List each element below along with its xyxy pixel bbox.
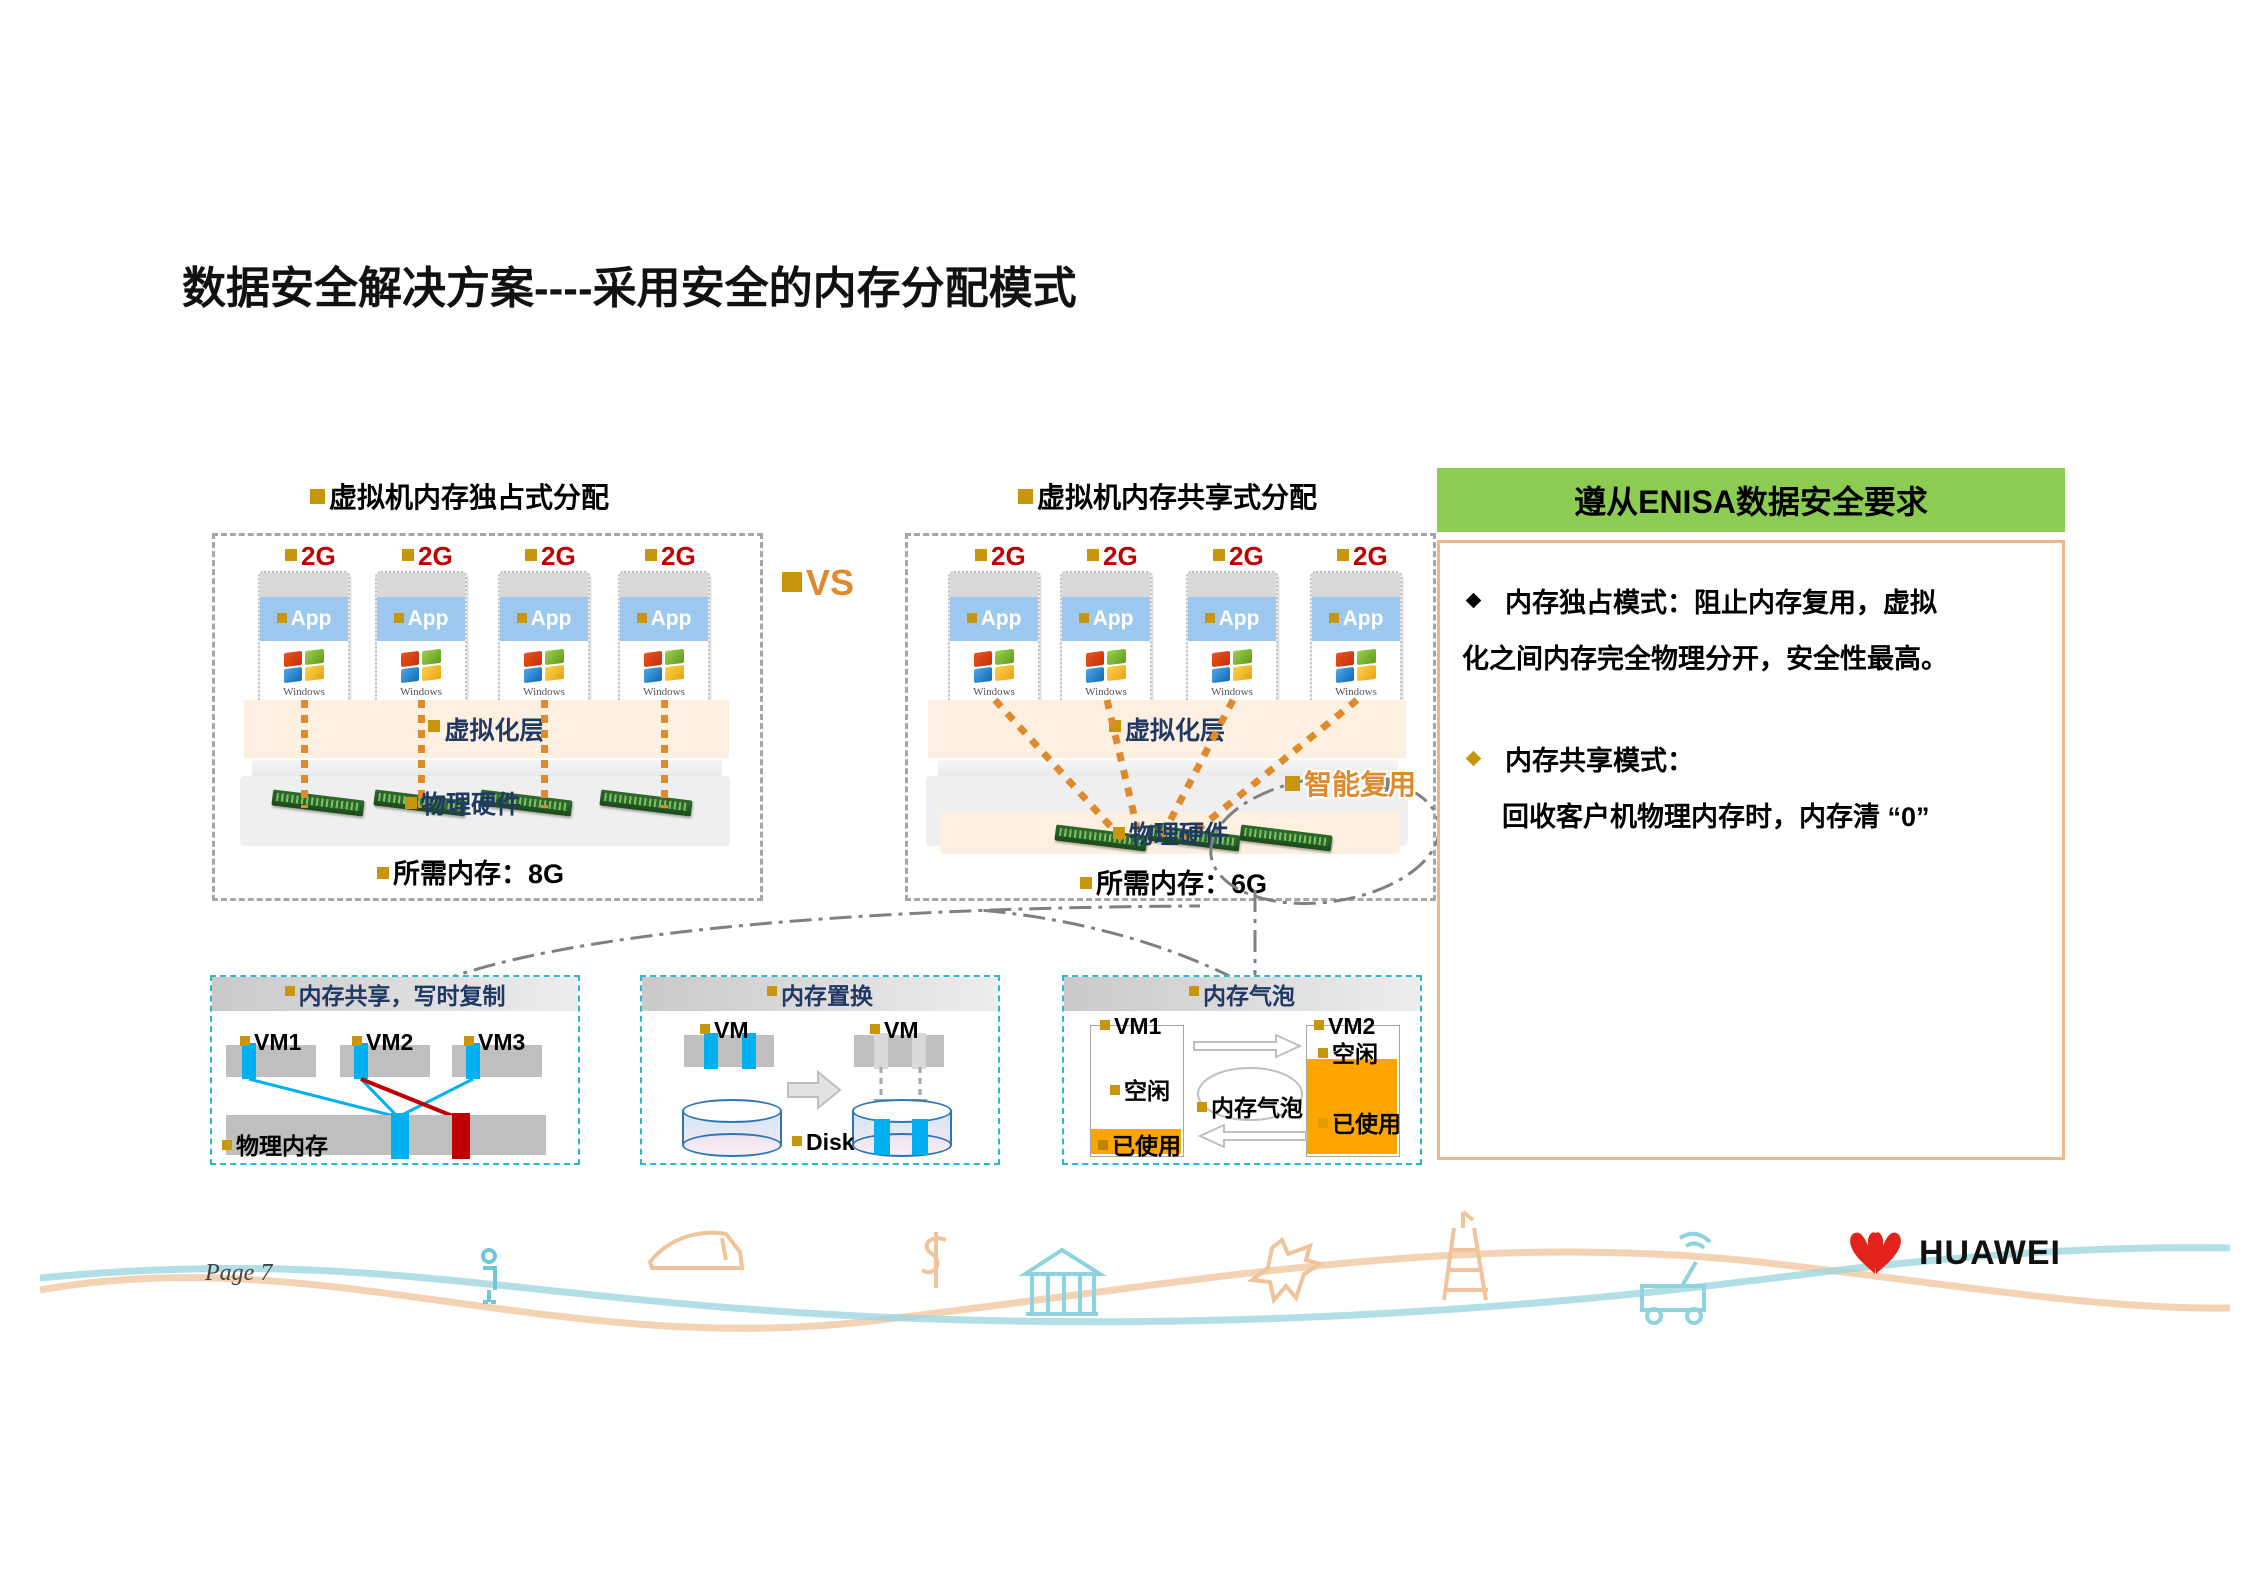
bullet-square-icon xyxy=(767,986,777,996)
windows-logo-icon xyxy=(643,650,685,684)
page-number: Page 7 xyxy=(205,1260,272,1287)
left-connector-2 xyxy=(541,700,548,808)
detail-box-0-vm1-label: VM1 xyxy=(240,1029,301,1056)
left-vm-0-mem: 2G xyxy=(285,541,336,572)
left-vm-3-mem: 2G xyxy=(645,541,696,572)
right-vm-2: App Windows xyxy=(1186,571,1278,713)
physical-cow-page xyxy=(452,1113,470,1159)
right-vm-1-mem: 2G xyxy=(1087,541,1138,572)
disk-page-1 xyxy=(912,1119,928,1155)
detail-box-1-disk-label: Disk xyxy=(792,1129,855,1156)
bullet-square-icon xyxy=(1079,613,1089,623)
bullet-square-icon xyxy=(975,549,987,561)
bullet-square-icon xyxy=(1318,1118,1328,1128)
bullet-square-icon xyxy=(967,613,977,623)
disk-cylinder-right xyxy=(852,1099,952,1157)
huawei-flower-icon xyxy=(1845,1228,1907,1278)
cyl-top xyxy=(682,1099,782,1123)
disk-cylinder-left xyxy=(682,1099,782,1157)
left-connector-3 xyxy=(661,700,668,808)
left-vm-2-mem: 2G xyxy=(525,541,576,572)
detail-box-memory-balloon: 内存气泡 VM1 空闲 已使用 VM2 空闲 已使用 内存气泡 xyxy=(1062,975,1422,1165)
smart-reuse-label: 智能复用 xyxy=(1285,763,1416,803)
vm-app-band: App xyxy=(377,597,465,641)
dollar-icon xyxy=(922,1232,946,1288)
left-connector-0 xyxy=(301,700,308,808)
bullet-square-icon xyxy=(428,720,440,732)
bullet-square-icon xyxy=(1337,549,1349,561)
vm-os-label: Windows xyxy=(643,686,685,698)
left-vm-2: App Windows xyxy=(498,571,590,713)
bullet-square-icon xyxy=(792,1136,802,1146)
vm-os-area: Windows xyxy=(500,641,588,707)
bullet-square-icon xyxy=(352,1036,362,1046)
windows-logo-icon xyxy=(1211,650,1253,684)
vm-app-band: App xyxy=(1312,597,1400,641)
bank-icon xyxy=(1025,1250,1100,1314)
vehicle-icon xyxy=(1642,1234,1710,1323)
vm-cap xyxy=(500,573,588,597)
detail-box-2-vm1-free: 空闲 xyxy=(1110,1072,1170,1106)
vm-os-area: Windows xyxy=(620,641,708,707)
disk-page-0 xyxy=(874,1119,890,1155)
bullet-square-icon xyxy=(1113,827,1125,839)
cyl-bottom xyxy=(852,1133,952,1157)
bullet-square-icon xyxy=(1197,1102,1207,1112)
left-panel-heading: 虚拟机内存独占式分配 xyxy=(310,476,609,516)
bullet-square-icon xyxy=(222,1140,232,1150)
cyl-bottom xyxy=(682,1133,782,1157)
vs-label: VS xyxy=(782,562,854,604)
right-vm-3: App Windows xyxy=(1310,571,1402,713)
left-vm-1-mem: 2G xyxy=(402,541,453,572)
windows-logo-icon xyxy=(1335,650,1377,684)
bullet-square-icon xyxy=(1329,613,1339,623)
detail-box-0-vm2-label: VM2 xyxy=(352,1029,413,1056)
windows-logo-icon xyxy=(1085,650,1127,684)
vm-app-band: App xyxy=(260,597,348,641)
detail-box-2-vm2-free: 空闲 xyxy=(1318,1035,1378,1069)
left-hw-label: 物理硬件 xyxy=(405,785,521,821)
detail-box-1-title: 内存置换 xyxy=(642,977,998,1011)
slide-canvas: 数据安全解决方案----采用安全的内存分配模式 虚拟机内存独占式分配 2G 2G… xyxy=(0,0,2245,1587)
windows-logo-icon xyxy=(523,650,565,684)
bullet-square-icon xyxy=(377,867,389,879)
bullet-square-icon xyxy=(394,613,404,623)
detail-box-2-balloon-label: 内存气泡 xyxy=(1197,1089,1303,1123)
bullet-square-icon xyxy=(1018,489,1033,504)
vm-cap xyxy=(620,573,708,597)
vm-cap xyxy=(1188,573,1276,597)
vm-cap xyxy=(260,573,348,597)
train-icon xyxy=(650,1233,742,1268)
bullet-square-icon xyxy=(1098,1140,1108,1150)
left-virtualization-layer: 虚拟化层 xyxy=(244,700,729,758)
diamond-bullet-icon xyxy=(1466,593,1482,609)
vm-os-area: Windows xyxy=(377,641,465,707)
vm-app-band: App xyxy=(950,597,1038,641)
detail-box-2-title: 内存气泡 xyxy=(1064,977,1420,1011)
vm-cap xyxy=(1312,573,1400,597)
detail-box-1-vm-left-label: VM xyxy=(700,1017,749,1044)
vm-app-band: App xyxy=(500,597,588,641)
vm-os-area: Windows xyxy=(260,641,348,707)
right-vm-0-mem: 2G xyxy=(975,541,1026,572)
bullet-square-icon xyxy=(1213,549,1225,561)
person-icon xyxy=(483,1250,496,1302)
bullet-square-icon xyxy=(310,489,325,504)
right-vm-2-mem: 2G xyxy=(1213,541,1264,572)
bullet-square-icon xyxy=(1189,986,1199,996)
bullet-square-icon xyxy=(1110,1085,1120,1095)
bullet-square-icon xyxy=(1285,776,1300,791)
bullet-square-icon xyxy=(277,613,287,623)
right-hw-label: 物理硬件 xyxy=(1113,815,1229,851)
vm-cap xyxy=(377,573,465,597)
vm-app-band: App xyxy=(1188,597,1276,641)
vm-os-label: Windows xyxy=(523,686,565,698)
cyl-top xyxy=(852,1099,952,1123)
bullet-square-icon xyxy=(240,1036,250,1046)
left-vm-3: App Windows xyxy=(618,571,710,713)
enisa-body: 内存独占模式：阻止内存复用，虚拟 化之间内存完全物理分开，安全性最高。 内存共享… xyxy=(1437,540,2065,1160)
bullet-square-icon xyxy=(1314,1020,1324,1030)
huawei-logo: HUAWEI xyxy=(1845,1228,2061,1278)
detail-box-memory-swap: 内存置换 VM VM xyxy=(640,975,1000,1165)
right-panel-heading: 虚拟机内存共享式分配 xyxy=(1018,476,1317,516)
right-vm-0: App Windows xyxy=(948,571,1040,713)
enisa-bullet-0-line-1: 化之间内存完全物理分开，安全性最高。 xyxy=(1462,639,1948,680)
vm-app-band: App xyxy=(620,597,708,641)
diamond-bullet-icon xyxy=(1466,751,1482,767)
bullet-square-icon xyxy=(645,549,657,561)
bullet-square-icon xyxy=(405,797,417,809)
bullet-square-icon xyxy=(402,549,414,561)
bullet-square-icon xyxy=(517,613,527,623)
bullet-square-icon xyxy=(870,1024,880,1034)
huawei-wordmark: HUAWEI xyxy=(1919,1234,2061,1273)
detail-box-2-vm1-label: VM1 xyxy=(1100,1013,1161,1040)
bullet-square-icon xyxy=(1087,549,1099,561)
detail-box-1-vm-right-label: VM xyxy=(870,1017,919,1044)
left-vm-0: App Windows xyxy=(258,571,350,713)
bullet-square-icon xyxy=(782,572,802,592)
right-vm-3-mem: 2G xyxy=(1337,541,1388,572)
detail-box-0-physical-label: 物理内存 xyxy=(222,1127,328,1161)
detail-box-memory-share: 内存共享，写时复制 VM1 VM2 VM3 物理内存 xyxy=(210,975,580,1165)
physical-shared-page xyxy=(391,1113,409,1159)
bullet-square-icon xyxy=(285,549,297,561)
bullet-square-icon xyxy=(525,549,537,561)
left-vm-1: App Windows xyxy=(375,571,467,713)
detail-box-2-vm1-used: 已使用 xyxy=(1098,1127,1181,1161)
vm-os-label: Windows xyxy=(283,686,325,698)
vm-app-band: App xyxy=(1062,597,1150,641)
vm-cap xyxy=(950,573,1038,597)
bullet-square-icon xyxy=(700,1024,710,1034)
enisa-bullet-1-line-0: 内存共享模式： xyxy=(1468,741,1694,782)
bullet-square-icon xyxy=(1318,1048,1328,1058)
vm-cap xyxy=(1062,573,1150,597)
enisa-bullet-1-line-1: 回收客户机物理内存时，内存清 “0” xyxy=(1502,797,1930,838)
enisa-header: 遵从ENISA数据安全要求 xyxy=(1437,468,2065,532)
bullet-square-icon xyxy=(464,1036,474,1046)
windows-logo-icon xyxy=(400,650,442,684)
bullet-square-icon xyxy=(637,613,647,623)
swap-arrow-icon xyxy=(786,1069,842,1111)
bullet-square-icon xyxy=(1100,1020,1110,1030)
windows-logo-icon xyxy=(973,650,1015,684)
right-vm-1: App Windows xyxy=(1060,571,1152,713)
detail-box-2-vm2-used: 已使用 xyxy=(1318,1105,1401,1139)
enisa-bullet-0-line-0: 内存独占模式：阻止内存复用，虚拟 xyxy=(1468,583,1937,624)
left-hw-top xyxy=(252,760,722,776)
page-title: 数据安全解决方案----采用安全的内存分配模式 xyxy=(182,252,1077,316)
detail-box-0-vm3-label: VM3 xyxy=(464,1029,525,1056)
footer-decoration xyxy=(0,1190,2245,1370)
bullet-square-icon xyxy=(1205,613,1215,623)
vm-os-label: Windows xyxy=(400,686,442,698)
windows-logo-icon xyxy=(283,650,325,684)
